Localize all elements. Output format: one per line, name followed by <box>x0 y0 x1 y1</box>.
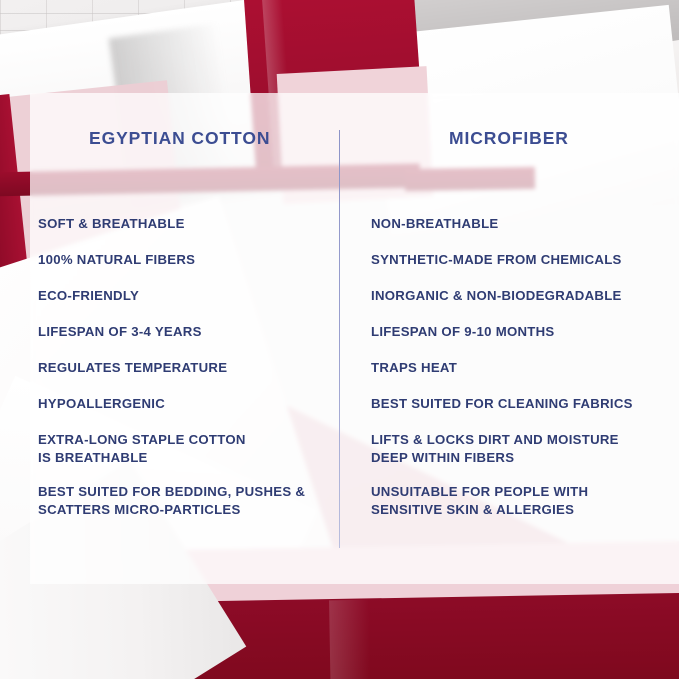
list-item: UNSUITABLE FOR PEOPLE WITH SENSITIVE SKI… <box>371 483 671 518</box>
list-item: SYNTHETIC-MADE FROM CHEMICALS <box>371 251 671 269</box>
list-item: TRAPS HEAT <box>371 359 671 377</box>
feature-list-microfiber: NON-BREATHABLE SYNTHETIC-MADE FROM CHEMI… <box>371 215 671 535</box>
list-item: BEST SUITED FOR BEDDING, PUSHES & SCATTE… <box>38 483 333 518</box>
list-item: BEST SUITED FOR CLEANING FABRICS <box>371 395 671 413</box>
list-item: 100% NATURAL FIBERS <box>38 251 333 269</box>
column-title-microfiber: MICROFIBER <box>449 128 569 149</box>
comparison-content: EGYPTIAN COTTON MICROFIBER SOFT & BREATH… <box>0 0 679 679</box>
list-item: SOFT & BREATHABLE <box>38 215 333 233</box>
list-item: LIFESPAN OF 3-4 YEARS <box>38 323 333 341</box>
list-item: EXTRA-LONG STAPLE COTTON IS BREATHABLE <box>38 431 333 466</box>
column-title-egyptian-cotton: EGYPTIAN COTTON <box>89 128 270 149</box>
column-divider <box>339 130 340 548</box>
list-item: NON-BREATHABLE <box>371 215 671 233</box>
list-item: HYPOALLERGENIC <box>38 395 333 413</box>
list-item: LIFESPAN OF 9-10 MONTHS <box>371 323 671 341</box>
list-item: INORGANIC & NON-BIODEGRADABLE <box>371 287 671 305</box>
list-item: LIFTS & LOCKS DIRT AND MOISTURE DEEP WIT… <box>371 431 671 466</box>
feature-list-egyptian-cotton: SOFT & BREATHABLE 100% NATURAL FIBERS EC… <box>38 215 333 535</box>
list-item: REGULATES TEMPERATURE <box>38 359 333 377</box>
list-item: ECO-FRIENDLY <box>38 287 333 305</box>
